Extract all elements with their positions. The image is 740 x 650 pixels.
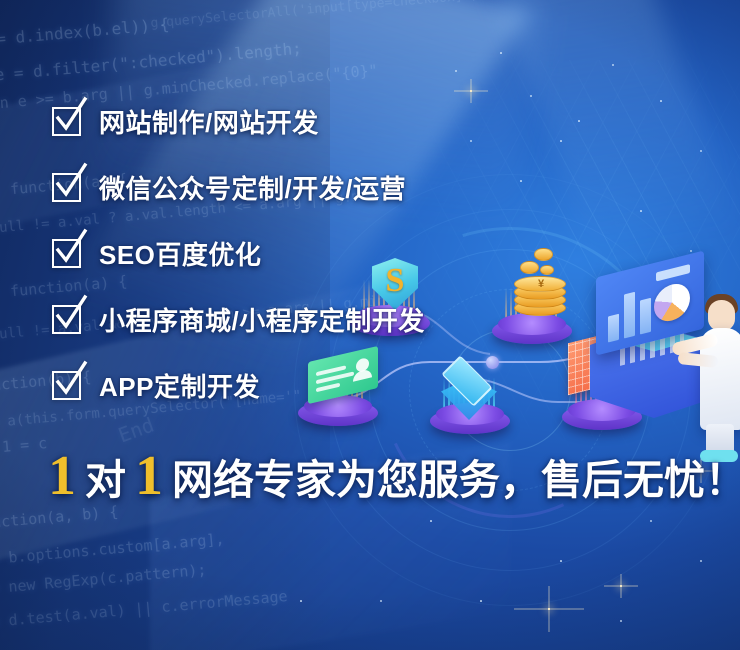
feature-label: APP定制开发	[99, 367, 260, 404]
slogan-number-first: 1	[48, 448, 76, 504]
feature-label: 小程序商城/小程序定制开发	[99, 301, 425, 338]
feature-label: 网站制作/网站开发	[99, 103, 319, 140]
slogan-number-second: 1	[135, 448, 163, 504]
slogan-mid-char: 对	[85, 460, 126, 501]
feature-row: SEO百度优化	[52, 230, 692, 276]
checkbox-checked-icon	[52, 239, 81, 268]
feature-label: 微信公众号定制/开发/运营	[99, 169, 406, 206]
promo-banner: g.querySelectorAll('input[type=checkbox]…	[0, 0, 740, 650]
feature-row: APP定制开发	[52, 362, 692, 408]
checkbox-checked-icon	[52, 173, 81, 202]
banner-content: 网站制作/网站开发微信公众号定制/开发/运营SEO百度优化小程序商城/小程序定制…	[0, 0, 740, 650]
slogan-tail-text: 网络专家为您服务，售后无忧！	[172, 460, 740, 501]
checkbox-checked-icon	[52, 371, 81, 400]
slogan-line: 1 对 1 网络专家为您服务，售后无忧！	[48, 448, 740, 504]
feature-row: 微信公众号定制/开发/运营	[52, 164, 692, 210]
checkbox-checked-icon	[52, 305, 81, 334]
feature-label: SEO百度优化	[99, 235, 261, 272]
feature-row: 小程序商城/小程序定制开发	[52, 296, 692, 342]
feature-list: 网站制作/网站开发微信公众号定制/开发/运营SEO百度优化小程序商城/小程序定制…	[52, 98, 692, 428]
checkbox-checked-icon	[52, 107, 81, 136]
feature-row: 网站制作/网站开发	[52, 98, 692, 144]
